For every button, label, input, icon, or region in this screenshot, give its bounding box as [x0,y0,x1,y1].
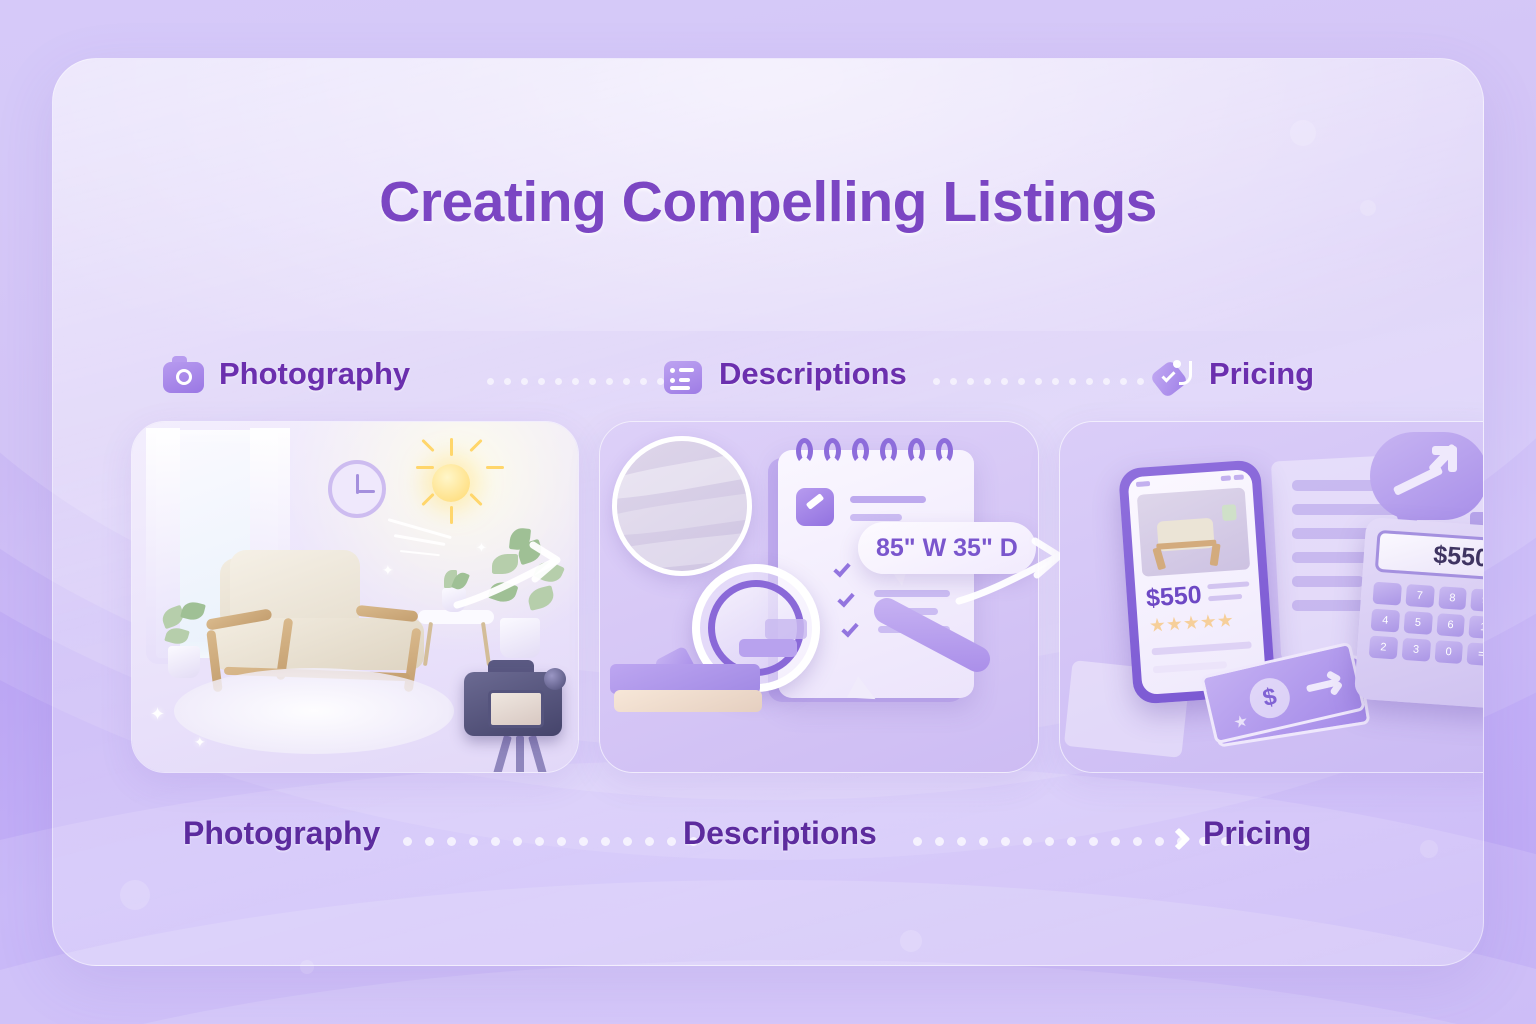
sun-icon [432,464,470,502]
price-tag-icon [1153,355,1194,393]
step-photography[interactable]: Photography [183,815,380,852]
camera-screen [488,690,544,728]
camera-lens [544,668,566,690]
photography-scene[interactable]: ✦ ✦ ✦ ✦ [131,421,579,773]
spiral-ring [908,438,925,464]
header-photography-label: Photography [219,356,410,392]
phone-screen: $550 [1128,469,1267,695]
header-row: Photography Descriptions Prici [163,355,1483,415]
calc-key[interactable]: = [1467,642,1484,666]
step-pricing[interactable]: Pricing [1203,815,1311,852]
spiral-ring [852,438,869,464]
sparkle-icon: ✦ [382,562,394,579]
tripod-leg [528,735,551,773]
header-pricing-label: Pricing [1209,356,1314,392]
descriptions-scene[interactable]: 85" W 35" D [599,421,1039,773]
armchair-seat [212,618,424,670]
step-flow: Photography Descriptions Pricing [163,815,1484,869]
sparkle-icon: ✦ [150,704,165,725]
tripod-leg [516,736,524,773]
pricing-scene[interactable]: $550 $ [1059,421,1484,773]
calc-key[interactable]: 7 [1405,584,1434,608]
calc-key[interactable]: 9 [1471,589,1484,613]
calculator-screen: $550 [1375,530,1484,581]
calc-key[interactable]: 4 [1371,609,1400,633]
header-pricing[interactable]: Pricing [1153,355,1314,393]
spiral-ring [880,438,897,464]
small-plant-pot [442,588,466,612]
header-descriptions[interactable]: Descriptions [663,355,907,393]
room-illustration: ✦ ✦ ✦ ✦ [132,422,578,772]
listing-price: $550 [1145,581,1203,614]
sparkle-icon: ✦ [476,540,487,556]
wall-clock-icon [328,460,386,518]
page-title: Creating Compelling Listings [53,169,1483,235]
chevron-right-icon [1168,828,1191,851]
spiral-ring [824,438,841,464]
dimension-badge[interactable]: 85" W 35" D [858,522,1036,574]
tripod-leg [489,735,512,773]
list-document-icon [663,355,704,393]
step-descriptions[interactable]: Descriptions [683,815,877,852]
fabric-swatch [612,436,752,576]
calculator[interactable]: $550 7 8 9 4 5 6 1 2 3 0 = [1354,517,1484,709]
star-rating [1149,613,1233,634]
calc-key[interactable]: 3 [1401,638,1430,662]
spiral-ring [796,438,813,464]
pricing-illustration: $550 $ [1060,422,1484,772]
calc-key[interactable]: 2 [1369,636,1398,660]
calc-key[interactable]: 8 [1438,586,1467,610]
step-connector-2 [913,837,1252,846]
book-pages [614,690,762,712]
descriptions-illustration: 85" W 35" D [600,422,1038,772]
main-content-card: Creating Compelling Listings Photography… [52,58,1484,966]
header-photography[interactable]: Photography [163,355,410,393]
header-descriptions-label: Descriptions [719,356,907,392]
dimension-badge-text: 85" W 35" D [876,534,1018,563]
corner-plant-pot [168,646,200,678]
header-connector-1 [487,377,681,385]
step-connector-1 [403,837,698,846]
calc-key[interactable]: 1 [1469,615,1484,639]
calc-key[interactable]: 0 [1434,640,1463,664]
calc-key[interactable] [1373,582,1402,606]
spiral-ring [936,438,953,464]
sparkle-icon: ✦ [194,734,206,751]
dollar-sign-icon: $ [1246,674,1294,722]
calc-key[interactable]: 6 [1436,613,1465,637]
calculator-keypad[interactable]: 7 8 9 4 5 6 1 2 3 0 = [1369,582,1484,667]
large-plant-pot [500,618,540,658]
round-rug [174,668,454,754]
calculator-value: $550 [1432,540,1484,573]
listing-photo [1137,487,1250,576]
camera-icon [163,355,204,393]
notepad-edit-icon [796,488,834,526]
calc-key[interactable]: 5 [1403,611,1432,635]
header-connector-2 [933,377,1161,385]
